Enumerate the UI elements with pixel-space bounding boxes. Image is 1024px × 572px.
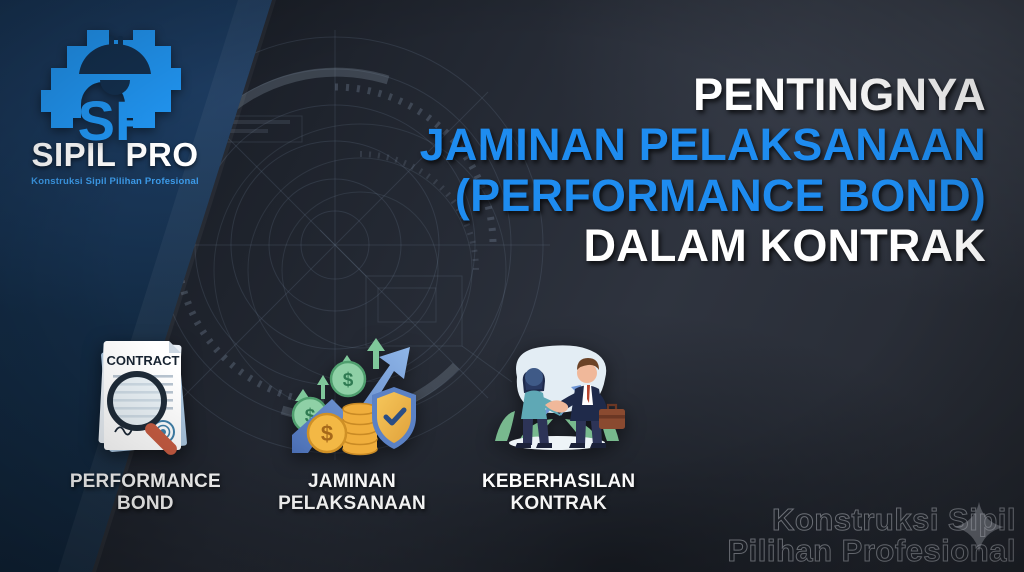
svg-text:$: $: [321, 421, 333, 446]
headline-line-4: DALAM KONTRAK: [266, 223, 986, 269]
headline-line-2: JAMINAN PELAKSANAAN: [266, 122, 986, 168]
coin-stack-icon: [343, 404, 377, 455]
feature-label-line-1: JAMINAN: [308, 471, 396, 492]
business-handshake-icon: [479, 327, 639, 457]
shield-check-icon: [372, 387, 416, 449]
headline-block: PENTINGNYA JAMINAN PELAKSANAAN (PERFORMA…: [266, 72, 986, 269]
document-title: CONTRACT: [107, 353, 180, 368]
headline-line-1: PENTINGNYA: [266, 72, 986, 118]
poster-canvas: SP SIPIL PRO Konstruksi Sipil Pilihan Pr…: [0, 0, 1024, 572]
feature-label-line-2: PELAKSANAAN: [278, 493, 426, 514]
svg-text:$: $: [343, 370, 354, 391]
feature-label-line-1: KEBERHASILAN: [482, 471, 635, 492]
feature-label-line-2: KONTRAK: [510, 493, 606, 514]
dollar-coin-gold: $: [308, 414, 346, 452]
headline-line-3: (PERFORMANCE BOND): [266, 173, 986, 219]
growth-arrow-coins-shield-icon: $ $ $: [282, 327, 422, 457]
feature-row: CONTRACT: [42, 327, 662, 514]
brand-logo: SP SIPIL PRO Konstruksi Sipil Pilihan Pr…: [24, 22, 206, 187]
brand-tagline: Konstruksi Sipil Pilihan Profesional: [24, 176, 206, 187]
feature-label: KEBERHASILAN KONTRAK: [482, 471, 635, 514]
logo-monogram: SP: [78, 89, 153, 144]
feature-item: KEBERHASILAN KONTRAK: [455, 327, 662, 514]
feature-item: CONTRACT: [42, 327, 249, 514]
sparkle-star-icon: [952, 500, 1006, 554]
feature-label: JAMINAN PELAKSANAAN: [278, 471, 426, 514]
feature-item: $ $ $: [249, 327, 456, 514]
contract-document-magnifier-icon: CONTRACT: [81, 327, 209, 457]
feature-label-line-1: PERFORMANCE: [70, 471, 221, 492]
gear-hardhat-worker-icon: SP: [40, 22, 190, 144]
feature-label: PERFORMANCE BOND: [70, 471, 221, 514]
dollar-coin-green: $: [331, 362, 365, 396]
feature-label-line-2: BOND: [117, 493, 174, 514]
